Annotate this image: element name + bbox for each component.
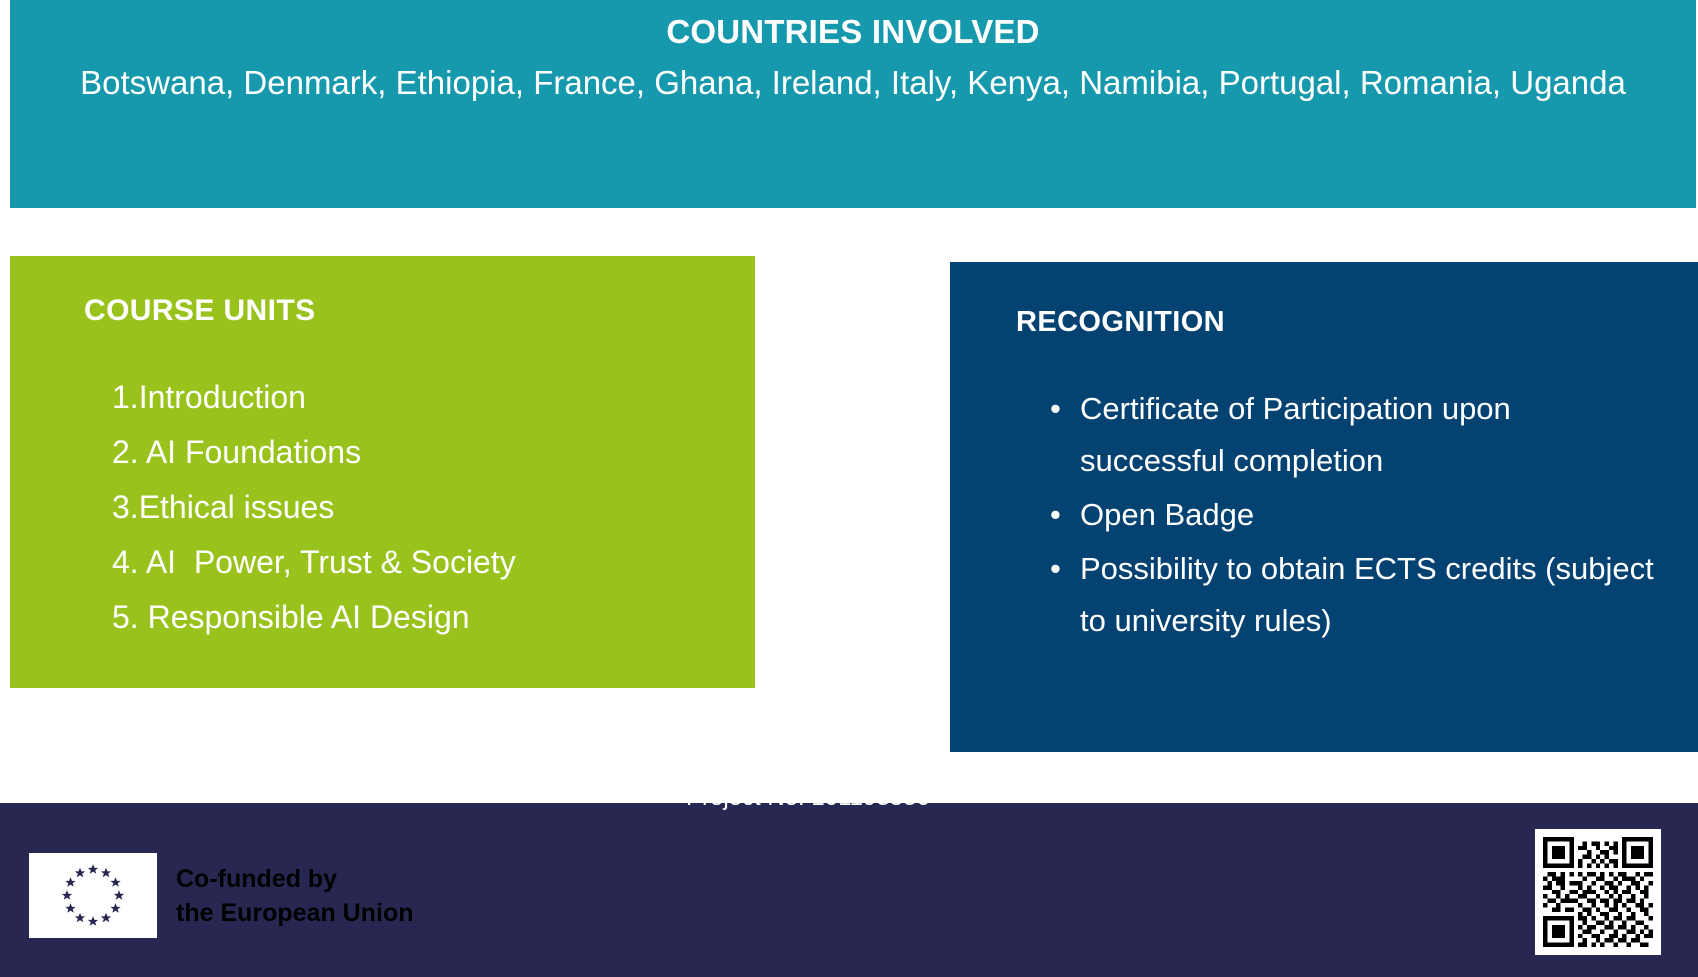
list-item: 2. AI Foundations — [112, 425, 725, 480]
list-item: 4. AI Power, Trust & Society — [112, 535, 725, 590]
countries-involved-list: Botswana, Denmark, Ethiopia, France, Gha… — [66, 56, 1640, 110]
list-item-label: Open Badge — [1080, 497, 1254, 532]
list-item: 1.Introduction — [112, 370, 725, 425]
bullet-icon: • — [1050, 383, 1061, 435]
project-number: Project No. 101193336 — [686, 783, 930, 813]
course-units-card: COURSE UNITS 1.Introduction 2. AI Founda… — [10, 256, 755, 688]
recognition-card: RECOGNITION • Certificate of Participati… — [950, 262, 1698, 752]
list-item-label: Certificate of Participation upon succes… — [1080, 391, 1511, 478]
bullet-icon: • — [1050, 543, 1061, 595]
countries-involved-banner: COUNTRIES INVOLVED Botswana, Denmark, Et… — [10, 0, 1696, 208]
eu-funding-text: Co-funded by the European Union — [176, 862, 414, 930]
course-units-heading: COURSE UNITS — [84, 294, 725, 328]
eu-funding-logo: Co-funded by the European Union — [29, 853, 414, 938]
countries-involved-title: COUNTRIES INVOLVED — [66, 8, 1640, 56]
eu-flag-icon — [29, 853, 157, 938]
list-item: • Possibility to obtain ECTS credits (su… — [1050, 543, 1662, 647]
recognition-list: • Certificate of Participation upon succ… — [1016, 383, 1662, 647]
bullet-icon: • — [1050, 489, 1061, 541]
recognition-heading: RECOGNITION — [1016, 306, 1662, 339]
list-item: 3.Ethical issues — [112, 480, 725, 535]
list-item: • Open Badge — [1050, 489, 1662, 541]
qr-code-icon[interactable] — [1535, 829, 1661, 955]
list-item: • Certificate of Participation upon succ… — [1050, 383, 1662, 487]
course-units-list: 1.Introduction 2. AI Foundations 3.Ethic… — [84, 370, 725, 645]
list-item: 5. Responsible AI Design — [112, 590, 725, 645]
list-item-label: Possibility to obtain ECTS credits (subj… — [1080, 551, 1654, 638]
